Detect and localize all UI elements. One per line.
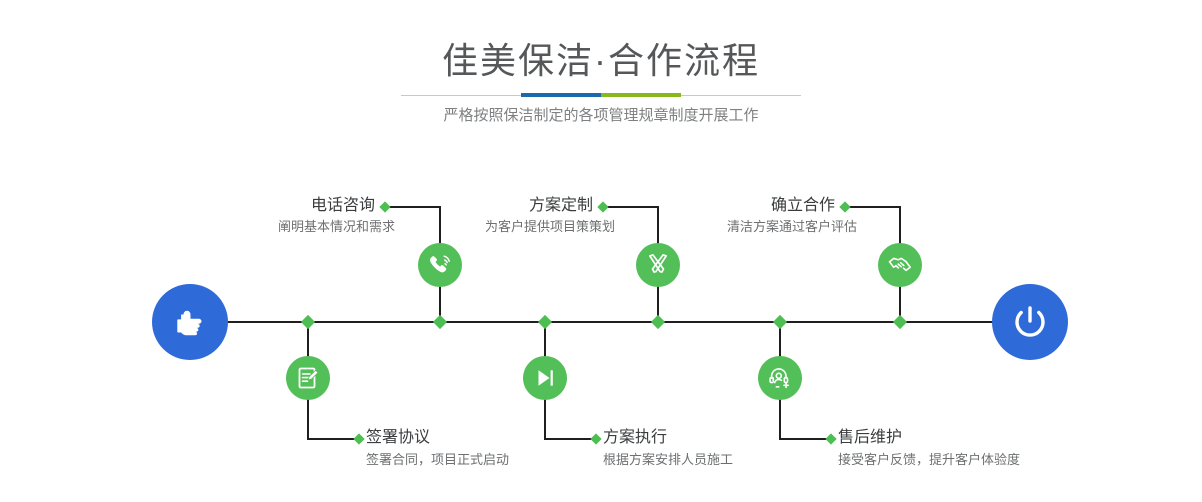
phone-ring-icon [427,252,453,278]
step-2-axis-marker [301,315,315,329]
step-4-icon-circle[interactable] [523,356,567,400]
step-5-diamond-marker [839,201,850,212]
step-5-axis-marker [893,315,907,329]
step-2-icon-circle[interactable] [286,356,330,400]
step-3-axis-marker [651,315,665,329]
step-3-icon-circle[interactable] [636,243,680,287]
step-1-icon-circle[interactable] [418,243,462,287]
process-flow: 电话咨询 阐明基本情况和需求 签署协议 [0,0,1202,502]
pointing-hand-icon [170,302,210,342]
step-6-title: 售后维护 [838,428,1118,448]
step-5-icon-circle[interactable] [878,243,922,287]
step-3-title: 方案定制 [340,196,593,216]
pencil-design-icon [645,252,671,278]
step-1-axis-marker [433,315,447,329]
step-3-description: 为客户提供项目策策划 [340,218,615,236]
step-6-description: 接受客户反馈，提升客户体验度 [838,451,1168,469]
flow-start-node[interactable] [152,284,228,360]
step-6-icon-circle[interactable] [758,356,802,400]
step-2-diamond-marker [353,433,364,444]
play-step-icon [532,365,558,391]
step-6-horizontal-connector [779,438,831,440]
step-5-description: 清洁方案通过客户评估 [585,218,857,236]
cooperation-process-infographic: 佳美保洁·合作流程 严格按照保洁制定的各项管理规章制度开展工作 [0,0,1202,502]
step-5-horizontal-connector [846,206,900,208]
headset-support-icon [767,365,793,391]
step-4-horizontal-connector [544,438,596,440]
timeline-axis [160,321,1060,323]
step-1-title: 电话咨询 [120,196,375,216]
step-2-horizontal-connector [307,438,359,440]
power-icon [1009,301,1051,343]
step-4-axis-marker [538,315,552,329]
step-5-title: 确立合作 [585,196,835,216]
handshake-icon [887,252,913,278]
flow-end-node[interactable] [992,284,1068,360]
document-edit-icon [295,365,321,391]
step-6-axis-marker [773,315,787,329]
